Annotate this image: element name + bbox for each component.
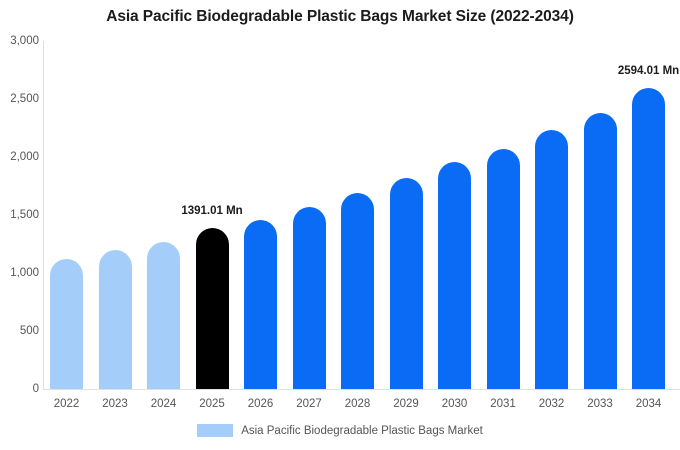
bar-2023[interactable] bbox=[99, 250, 132, 389]
x-axis-tick-label: 2026 bbox=[244, 398, 277, 410]
bars-layer: 2022202320242025202620272028202920302031… bbox=[0, 0, 680, 450]
bar-2029[interactable] bbox=[390, 178, 423, 389]
bar-2024[interactable] bbox=[147, 242, 180, 389]
bar-2028[interactable] bbox=[341, 193, 374, 389]
bar-2026[interactable] bbox=[244, 220, 277, 389]
x-axis-tick-label: 2034 bbox=[632, 398, 665, 410]
bar-chart: Asia Pacific Biodegradable Plastic Bags … bbox=[0, 0, 680, 450]
x-axis-tick-label: 2032 bbox=[535, 398, 568, 410]
bar-2031[interactable] bbox=[487, 149, 520, 389]
x-axis-tick-label: 2023 bbox=[99, 398, 132, 410]
bar-2033[interactable] bbox=[584, 113, 617, 389]
value-label-2025: 1391.01 Mn bbox=[181, 205, 242, 217]
bar-2025[interactable] bbox=[196, 228, 229, 389]
bar-2030[interactable] bbox=[438, 162, 471, 389]
x-axis-tick-label: 2029 bbox=[390, 398, 423, 410]
bar-2022[interactable] bbox=[50, 259, 83, 389]
legend-item[interactable]: Asia Pacific Biodegradable Plastic Bags … bbox=[197, 424, 483, 437]
x-axis-tick-label: 2033 bbox=[584, 398, 617, 410]
x-axis-tick-label: 2028 bbox=[341, 398, 374, 410]
chart-legend: Asia Pacific Biodegradable Plastic Bags … bbox=[0, 424, 680, 437]
x-axis-tick-label: 2025 bbox=[196, 398, 229, 410]
bar-2032[interactable] bbox=[535, 130, 568, 389]
legend-swatch-icon bbox=[197, 424, 233, 437]
x-axis-tick-label: 2030 bbox=[438, 398, 471, 410]
bar-2034[interactable] bbox=[632, 88, 665, 389]
x-axis-tick-label: 2031 bbox=[487, 398, 520, 410]
bar-2027[interactable] bbox=[293, 207, 326, 389]
legend-item-label: Asia Pacific Biodegradable Plastic Bags … bbox=[241, 425, 483, 437]
x-axis-tick-label: 2027 bbox=[293, 398, 326, 410]
x-axis-tick-label: 2024 bbox=[147, 398, 180, 410]
value-label-2034: 2594.01 Mn bbox=[618, 65, 679, 77]
x-axis-tick-label: 2022 bbox=[50, 398, 83, 410]
